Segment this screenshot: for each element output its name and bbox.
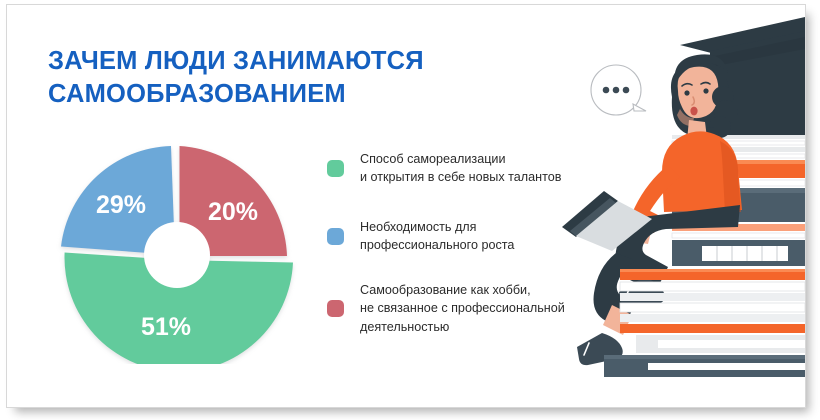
page-title-line-1: ЗАЧЕМ ЛЮДИ ЗАНИМАЮТСЯ (48, 45, 518, 78)
legend-item-label: Самообразование как хобби, не связанное … (360, 281, 565, 336)
slice-label-self-realization: 51% (141, 313, 191, 341)
book-stack-middle (672, 224, 805, 266)
slice-label-hobby: 20% (208, 198, 258, 226)
illustration-woman-studying (560, 5, 805, 407)
donut-chart: 20% 51% 29% (53, 138, 301, 364)
slide-frame: ЗАЧЕМ ЛЮДИ ЗАНИМАЮТСЯ САМООБРАЗОВАНИЕМ 2… (6, 4, 806, 408)
legend-item-label: Способ самореализации и открытия в себе … (360, 150, 561, 187)
speech-bubble-icon (591, 65, 646, 115)
legend-swatch-blue (327, 228, 344, 245)
slice-label-professional-growth: 29% (96, 191, 146, 219)
legend-item-label: Необходимость для профессионального рост… (360, 218, 514, 255)
donut-hole (144, 222, 210, 288)
book-stack-lower (604, 269, 805, 377)
page-title: ЗАЧЕМ ЛЮДИ ЗАНИМАЮТСЯ САМООБРАЗОВАНИЕМ (48, 45, 518, 110)
page-title-line-2: САМООБРАЗОВАНИЕМ (48, 78, 518, 111)
legend-swatch-red (327, 300, 344, 317)
legend-swatch-green (327, 160, 344, 177)
